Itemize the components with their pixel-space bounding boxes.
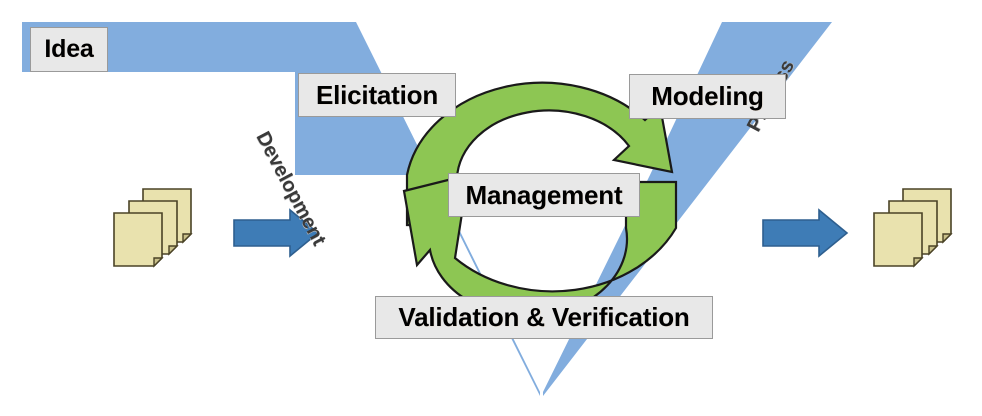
output-flow-arrow bbox=[763, 210, 847, 256]
label-elicitation[interactable]: Elicitation bbox=[298, 73, 456, 117]
document-sheet-front bbox=[874, 213, 922, 266]
label-idea[interactable]: Idea bbox=[30, 27, 108, 72]
document-sheet-front bbox=[114, 213, 162, 266]
label-validation-verification[interactable]: Validation & Verification bbox=[375, 296, 713, 339]
label-management[interactable]: Management bbox=[448, 173, 640, 217]
output-document-stack bbox=[874, 189, 951, 266]
input-document-stack bbox=[114, 189, 191, 266]
diagram-canvas: Development Process Idea Elicitation Mod… bbox=[0, 0, 982, 416]
label-modeling[interactable]: Modeling bbox=[629, 74, 786, 119]
